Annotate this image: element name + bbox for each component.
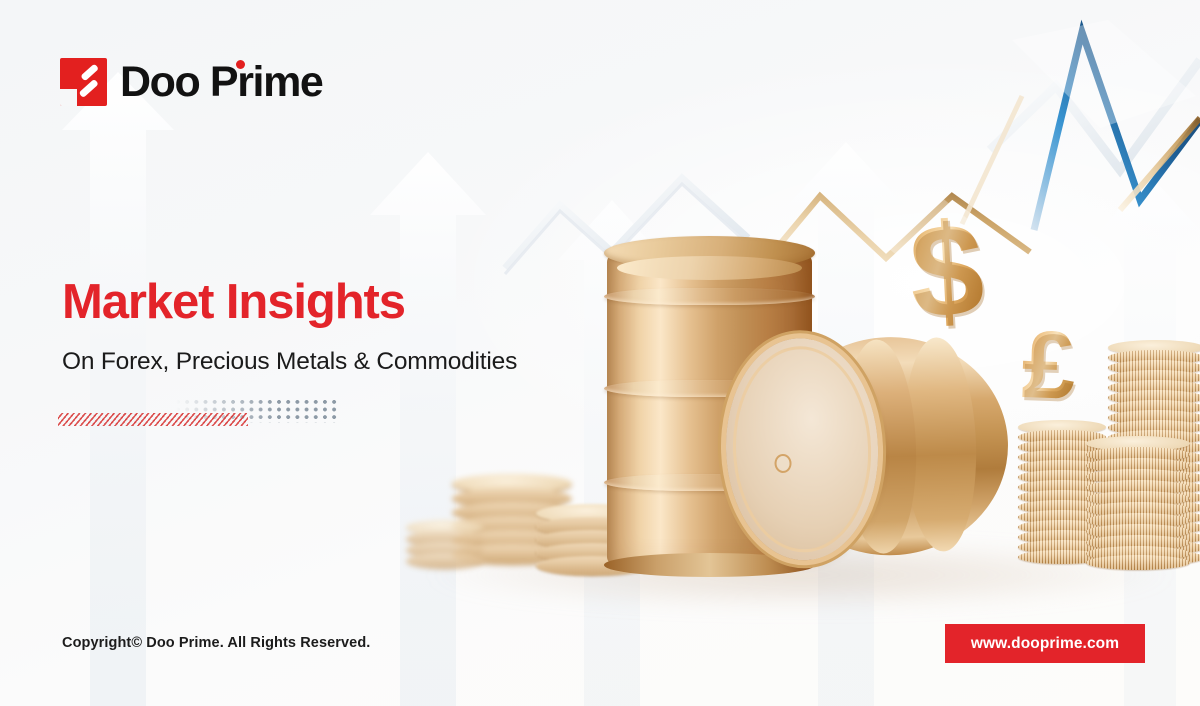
page-title: Market Insights xyxy=(62,277,405,328)
oil-barrel-icon xyxy=(607,252,812,567)
coin-stack-icon xyxy=(536,504,648,570)
copyright-text: Copyright© Doo Prime. All Rights Reserve… xyxy=(62,635,370,651)
coin-stack-icon xyxy=(1018,420,1106,570)
divider-hatch-bar xyxy=(58,413,248,426)
brand-name: Doo Prime xyxy=(120,61,322,104)
website-url-badge[interactable]: www.dooprime.com xyxy=(945,624,1145,663)
website-url-text: www.dooprime.com xyxy=(971,635,1119,653)
coin-stack-icon xyxy=(1086,436,1190,570)
market-insights-banner: $ xyxy=(0,0,1200,706)
oil-barrel-tilted-icon xyxy=(722,331,1012,563)
dollar-symbol-icon: $ xyxy=(907,203,987,339)
brand-name-text: Doo Prime xyxy=(120,58,322,106)
brand-logo: Doo Prime xyxy=(60,58,322,106)
coin-stack-icon xyxy=(452,474,572,570)
coin-stack-icon xyxy=(406,520,484,570)
coin-stack-icon xyxy=(1108,340,1200,570)
scene-shadow xyxy=(430,540,1170,610)
doo-prime-square-pen-icon xyxy=(60,58,107,106)
page-subtitle: On Forex, Precious Metals & Commodities xyxy=(62,347,517,376)
logo-dot-accent xyxy=(236,60,245,69)
barrel-bung-icon xyxy=(774,454,792,474)
decorative-divider xyxy=(58,400,340,430)
pound-symbol-icon: £ xyxy=(1020,317,1077,415)
